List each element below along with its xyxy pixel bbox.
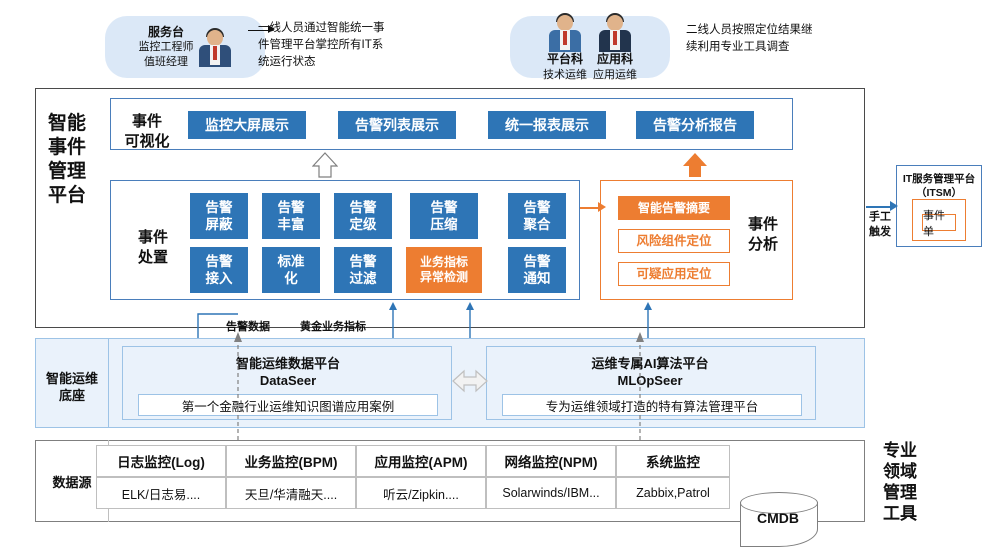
arrow-handling-to-analysis-line [580, 207, 600, 209]
handling-item-r1c1[interactable]: 告警 屏蔽 [190, 193, 248, 239]
avatar-service-desk [198, 27, 232, 67]
callout-right-sub2: 应用运维 [593, 68, 637, 83]
handling-item-r1c4[interactable]: 告警 压缩 [410, 193, 478, 239]
professional-tools-label: 专业 领域 管理 工具 [872, 440, 928, 524]
handling-item-r2c1[interactable]: 告警 接入 [190, 247, 248, 293]
datasource-cell-1: ELK/日志易.... [96, 477, 226, 509]
handling-item-r1c5[interactable]: 告警 聚合 [508, 193, 566, 239]
handling-item-r2c3[interactable]: 告警 过滤 [334, 247, 392, 293]
viz-item-2[interactable]: 告警列表展示 [338, 111, 456, 139]
viz-item-1[interactable]: 监控大屏展示 [188, 111, 306, 139]
callout-right-note: 二线人员按照定位结果继续利用专业工具调查 [686, 22, 816, 56]
cmdb-label: CMDB [740, 510, 816, 526]
handling-item-r1c2[interactable]: 告警 丰富 [262, 193, 320, 239]
dashed-connectors [200, 326, 720, 446]
aiops-base-label: 智能运维 底座 [37, 370, 107, 404]
viz-item-4[interactable]: 告警分析报告 [636, 111, 754, 139]
callout-right-title2: 应用科 [597, 52, 633, 66]
callout-left-line2: 监控工程师 [139, 40, 194, 55]
datasource-head-1: 日志监控(Log) [96, 445, 226, 477]
event-analysis-label: 事件 分析 [740, 215, 786, 255]
datasource-cell-5: Zabbix,Patrol [616, 477, 730, 509]
incident-ticket-label: 事件单 [922, 214, 956, 231]
datasource-head-5: 系统监控 [616, 445, 730, 477]
callout-left-text: 服务台 监控工程师 值班经理 [139, 25, 194, 70]
callout-right-sub1: 技术运维 [543, 68, 587, 83]
handling-item-r2c4-highlight[interactable]: 业务指标 异常检测 [406, 247, 482, 293]
callout-bubble-service-desk: 服务台 监控工程师 值班经理 [105, 16, 265, 78]
itsm-title: IT服务管理平台 （ITSM） [896, 172, 982, 200]
datasource-cell-3: 听云/Zipkin.... [356, 477, 486, 509]
avatar-platform-dept [548, 12, 582, 52]
handling-item-r2c5[interactable]: 告警 通知 [508, 247, 566, 293]
arrow-handling-to-visualization-icon [312, 152, 338, 178]
handling-item-r1c3[interactable]: 告警 定级 [334, 193, 392, 239]
platform-side-title: 智能 事件 管理 平台 [45, 112, 89, 208]
datasource-cell-4: Solarwinds/IBM... [486, 477, 616, 509]
arrow-analysis-to-visualization-icon [682, 152, 708, 178]
manual-trigger-label: 手工 触发 [862, 210, 898, 240]
callout-left-note: 一线人员通过智能统一事件管理平台掌控所有IT系统运行状态 [258, 20, 388, 71]
callout-left-line3: 值班经理 [139, 55, 194, 70]
callout-bubble-ops-teams: 平台科 技术运维 应用科 应用运维 [510, 16, 670, 78]
event-handling-label: 事件 处置 [124, 228, 182, 268]
analysis-item-1[interactable]: 智能告警摘要 [618, 196, 730, 220]
analysis-item-2[interactable]: 风险组件定位 [618, 229, 730, 253]
handling-item-r2c2[interactable]: 标准 化 [262, 247, 320, 293]
analysis-item-3[interactable]: 可疑应用定位 [618, 262, 730, 286]
viz-item-3[interactable]: 统一报表展示 [488, 111, 606, 139]
cmdb-cylinder-icon: CMDB [740, 492, 816, 548]
datasource-cell-2: 天旦/华清融天.... [226, 477, 356, 509]
callout-left-title: 服务台 [139, 25, 194, 40]
callout-right-title1: 平台科 [547, 52, 583, 66]
incident-ticket-doc-icon: 事件单 [912, 199, 966, 241]
datasource-head-4: 网络监控(NPM) [486, 445, 616, 477]
visualization-label: 事件 可视化 [118, 112, 176, 152]
avatar-application-dept [598, 12, 632, 52]
datasource-head-2: 业务监控(BPM) [226, 445, 356, 477]
arrow-handling-to-analysis-head-icon [598, 202, 606, 212]
datasource-head-3: 应用监控(APM) [356, 445, 486, 477]
